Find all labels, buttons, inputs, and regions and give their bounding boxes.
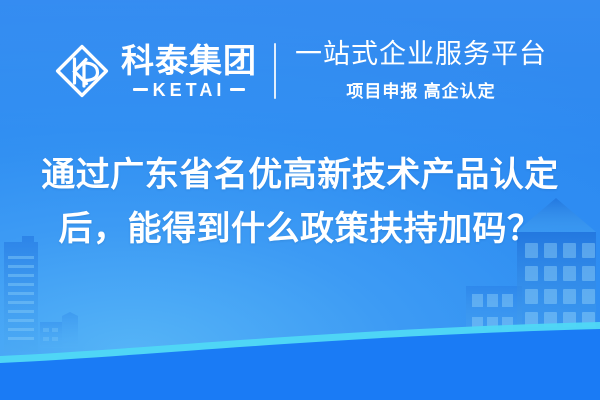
tagline-main: 一站式企业服务平台 <box>295 40 547 70</box>
ketai-diamond-logo-icon <box>53 42 111 100</box>
tagline-block: 一站式企业服务平台 项目申报 高企认定 <box>295 40 547 102</box>
header-divider <box>274 43 276 99</box>
headline-line-1: 通过广东省名优高新技术产品认定 <box>0 148 600 202</box>
brand-lockup: 科泰集团 KETAI <box>53 42 257 100</box>
brand-name-cn: 科泰集团 <box>121 44 257 77</box>
banner-header: 科泰集团 KETAI 一站式企业服务平台 项目申报 高企认定 <box>0 30 600 112</box>
dash-right-icon <box>230 88 245 91</box>
banner-canvas: 科泰集团 KETAI 一站式企业服务平台 项目申报 高企认定 通过广东省名优高新… <box>0 0 600 400</box>
brand-name-latin-row: KETAI <box>133 81 246 99</box>
dash-left-icon <box>133 88 148 91</box>
brand-wordmark: 科泰集团 KETAI <box>121 44 257 99</box>
brand-name-latin: KETAI <box>153 81 226 99</box>
tagline-sub: 项目申报 高企认定 <box>346 77 495 102</box>
headline: 通过广东省名优高新技术产品认定 后，能得到什么政策扶持加码？ <box>0 148 600 256</box>
headline-line-2: 后，能得到什么政策扶持加码？ <box>0 202 600 256</box>
